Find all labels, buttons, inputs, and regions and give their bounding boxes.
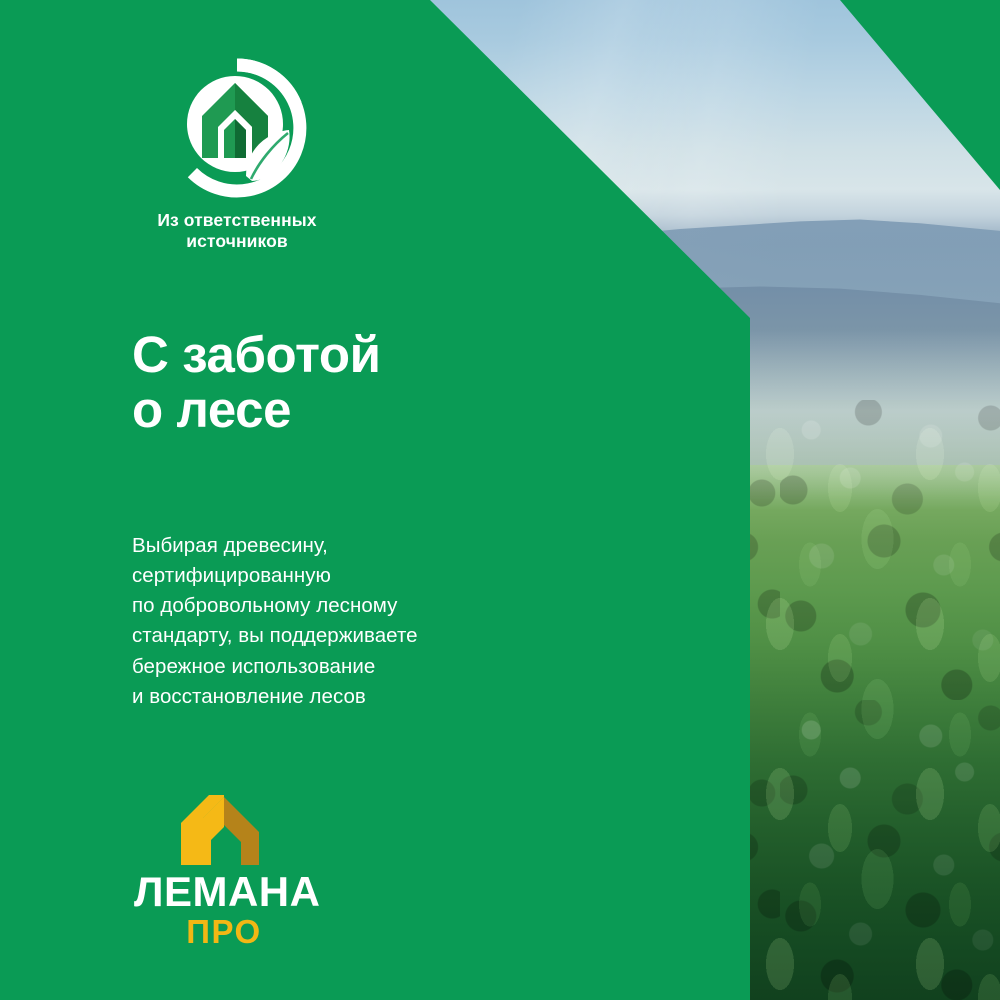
responsible-sources-seal-icon	[167, 58, 307, 200]
body-text: Выбирая древесину, сертифицированную по …	[132, 531, 418, 712]
page-title: С заботой о лесе	[132, 327, 381, 437]
brand-lockup: ЛЕМАНА ПРО	[134, 795, 314, 950]
certification-badge-caption: Из ответственных источников	[132, 210, 342, 251]
poster-content: Из ответственных источников С заботой о …	[0, 0, 1000, 1000]
certification-badge: Из ответственных источников	[132, 58, 342, 251]
brand-name: ЛЕМАНА	[134, 871, 314, 913]
lemana-house-icon	[181, 795, 267, 867]
poster-root: Из ответственных источников С заботой о …	[0, 0, 1000, 1000]
brand-subname: ПРО	[134, 915, 314, 950]
